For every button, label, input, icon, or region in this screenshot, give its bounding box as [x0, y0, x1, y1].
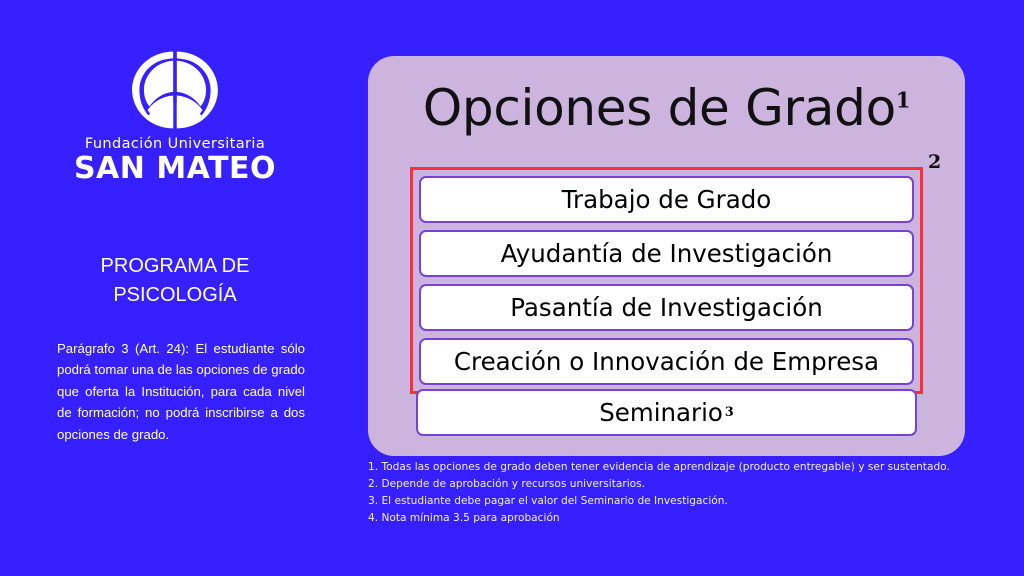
panel-title-superscript: 1	[896, 87, 910, 112]
panel-title: Opciones de Grado1	[368, 56, 965, 133]
program-title: PROGRAMA DE PSICOLOGÍA	[30, 252, 320, 310]
option-label: Ayudantía de Investigación	[501, 239, 833, 268]
program-title-line1: PROGRAMA DE	[30, 252, 320, 281]
option-label: Pasantía de Investigación	[510, 293, 822, 322]
program-title-line2: PSICOLOGÍA	[30, 281, 320, 310]
option-ayudantia-de-investigacion[interactable]: Ayudantía de Investigación	[419, 230, 914, 277]
regulation-note: Parágrafo 3 (Art. 24): El estudiante sól…	[57, 338, 305, 445]
option-pasantia-de-investigacion[interactable]: Pasantía de Investigación	[419, 284, 914, 331]
option-label: Creación o Innovación de Empresa	[454, 347, 879, 376]
logo-subtitle: Fundación Universitaria	[0, 136, 350, 152]
panel-title-text: Opciones de Grado	[423, 79, 896, 137]
option-label: Seminario	[599, 398, 723, 427]
logo-institution-name: SAN MATEO	[0, 153, 350, 185]
options-panel: Opciones de Grado1 2 Trabajo de Grado Ay…	[368, 56, 965, 456]
highlighted-options-group: Trabajo de Grado Ayudantía de Investigac…	[410, 167, 923, 394]
institution-logo: Fundación Universitaria SAN MATEO	[0, 48, 350, 185]
footnote-item: 2. Depende de aprobación y recursos univ…	[368, 476, 988, 493]
footnotes-list: 1. Todas las opciones de grado deben ten…	[368, 459, 988, 528]
footnote-item: 4. Nota mínima 3.5 para aprobación	[368, 510, 988, 527]
footnote-item: 3. El estudiante debe pagar el valor del…	[368, 493, 988, 510]
left-column: Fundación Universitaria SAN MATEO PROGRA…	[0, 0, 350, 576]
footnote-item: 1. Todas las opciones de grado deben ten…	[368, 459, 988, 476]
group-footnote-marker: 2	[928, 151, 941, 173]
option-superscript: 3	[725, 405, 734, 420]
option-creacion-o-innovacion-de-empresa[interactable]: Creación o Innovación de Empresa	[419, 338, 914, 385]
san-mateo-brain-logo-icon	[129, 48, 221, 132]
option-seminario[interactable]: Seminario3	[416, 389, 917, 436]
option-label: Trabajo de Grado	[562, 185, 772, 214]
option-trabajo-de-grado[interactable]: Trabajo de Grado	[419, 176, 914, 223]
